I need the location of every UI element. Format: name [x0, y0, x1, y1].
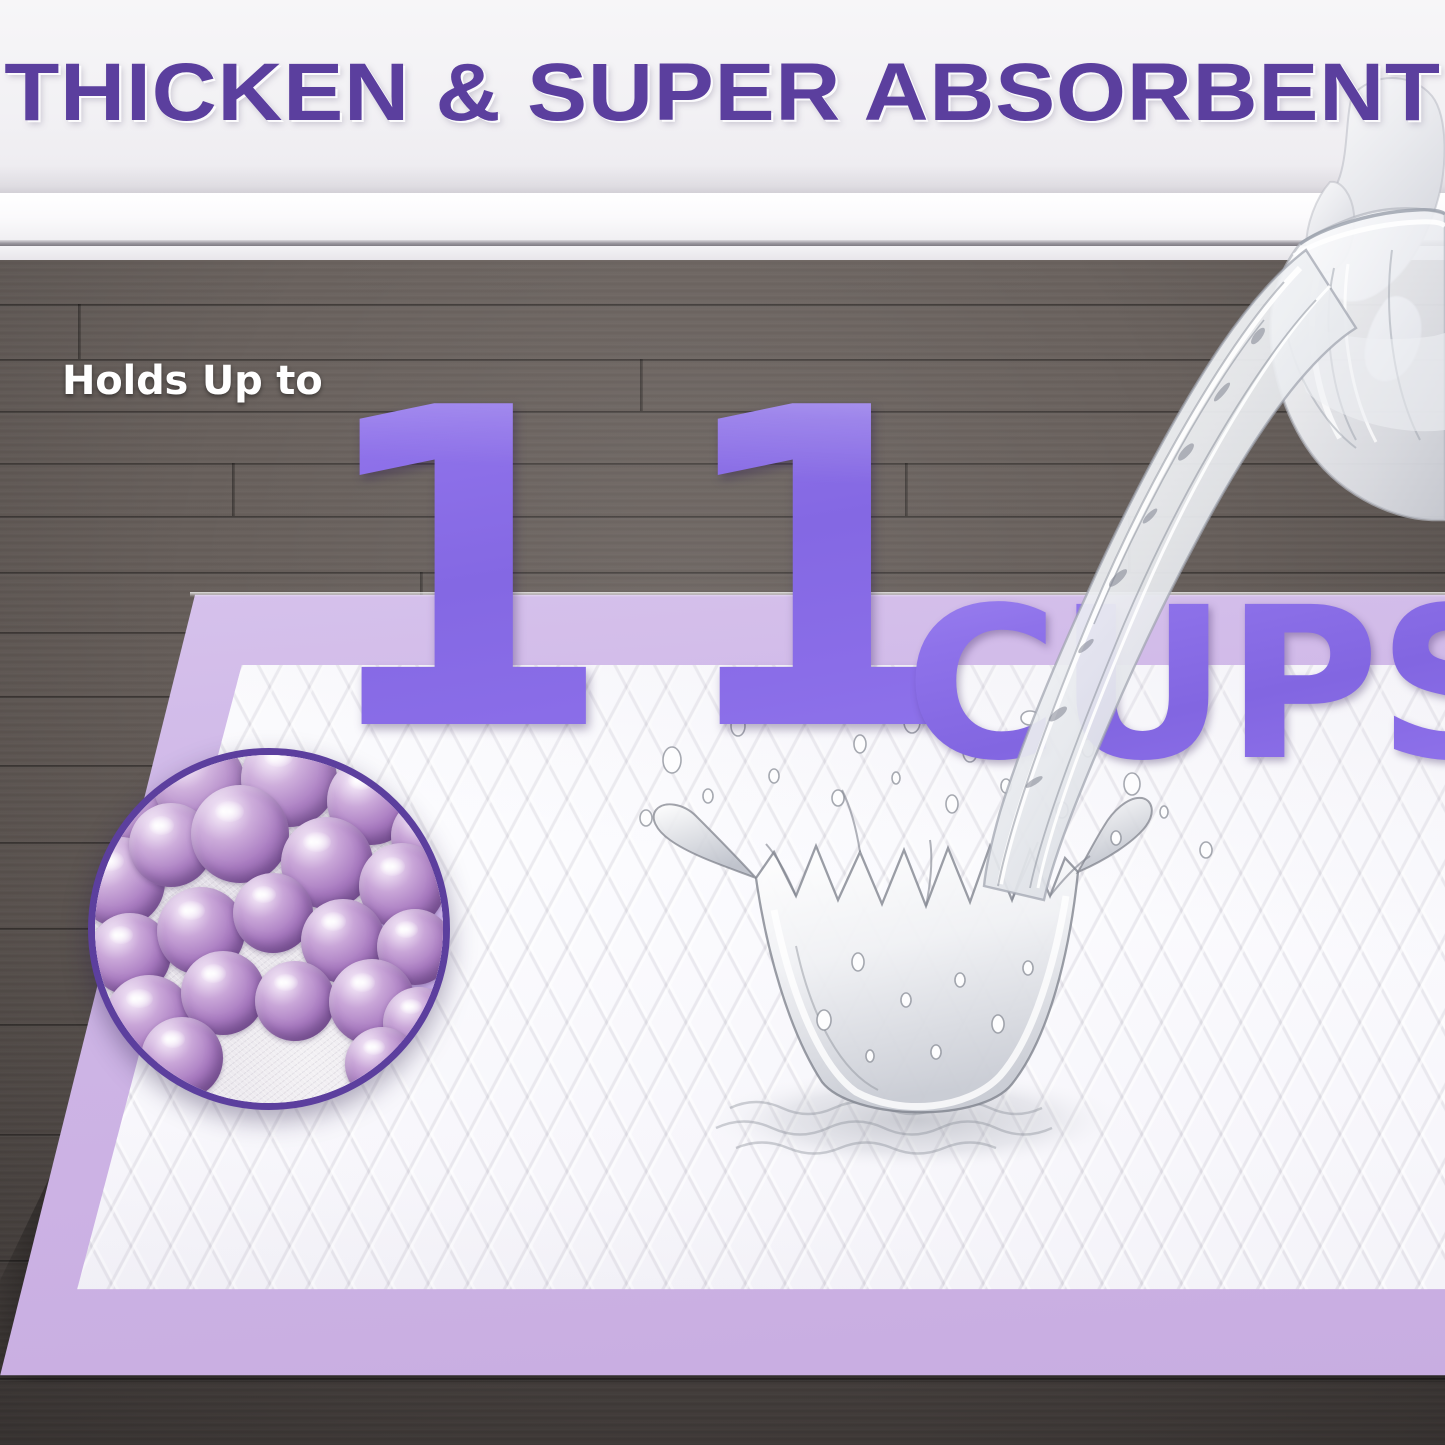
capacity-prefix-label: Holds Up to: [62, 358, 322, 404]
gel-bead: [345, 1027, 419, 1101]
gel-bead: [191, 785, 289, 883]
capacity-unit: CUPS: [905, 580, 1445, 790]
product-feature-image: 11 11 CUPS Holds Up to: [0, 0, 1445, 1445]
gel-bead: [255, 961, 335, 1041]
page-title: THICKEN & SUPER ABSORBENT: [0, 52, 1445, 134]
gel-bead: [141, 1017, 223, 1099]
gel-bead-closeup-inset: [88, 748, 450, 1110]
